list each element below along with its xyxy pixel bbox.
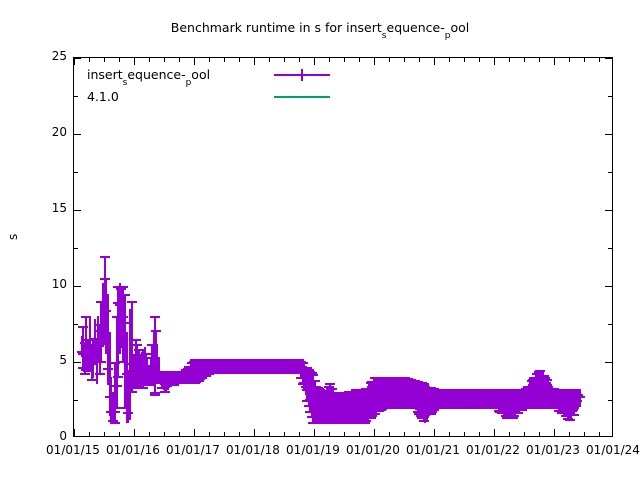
x-minor-tick xyxy=(269,432,270,436)
x-tick-mark xyxy=(134,58,135,65)
errorbar-cap-high xyxy=(151,330,161,332)
chart-root: Benchmark runtime in s for insertsequenc… xyxy=(0,0,640,480)
data-series-layer xyxy=(74,58,613,437)
errorbar-cap-high xyxy=(120,294,130,296)
title-mid: equence- xyxy=(387,20,445,35)
errorbar-cap-high xyxy=(310,380,320,382)
x-tick-mark xyxy=(194,58,195,65)
y-tick-label: 10 xyxy=(7,278,67,290)
errorbar-cap-low xyxy=(201,375,211,377)
x-minor-tick xyxy=(299,58,300,62)
errorbar-cap-low xyxy=(150,394,160,396)
x-minor-tick xyxy=(359,432,360,436)
x-tick-mark xyxy=(434,429,435,436)
x-axis-ticklabels: 01/01/1501/01/1601/01/1701/01/1801/01/19… xyxy=(0,443,640,463)
x-minor-tick xyxy=(149,58,150,62)
x-tick-mark xyxy=(494,429,495,436)
x-minor-tick xyxy=(164,58,165,62)
y-minor-tick xyxy=(608,324,612,325)
x-tick-mark xyxy=(194,429,195,436)
x-minor-tick xyxy=(104,58,105,62)
errorbar-cap-low xyxy=(429,409,439,411)
errorbar-cap-high xyxy=(132,344,142,346)
x-minor-tick xyxy=(389,58,390,62)
x-tick-mark xyxy=(374,58,375,65)
errorbar-cap-low xyxy=(113,376,123,378)
x-tick-mark xyxy=(74,429,75,436)
errorbar-cap-high xyxy=(118,286,128,288)
x-tick-mark xyxy=(74,58,75,65)
errorbar-vertical xyxy=(579,389,581,407)
errorbar-cap-high xyxy=(141,353,151,355)
point-marker xyxy=(101,310,111,312)
x-minor-tick xyxy=(584,58,585,62)
point-marker xyxy=(118,316,128,318)
errorbar-cap-high xyxy=(325,383,335,385)
x-minor-tick xyxy=(209,58,210,62)
x-minor-tick xyxy=(344,432,345,436)
errorbar-cap-low xyxy=(513,412,523,414)
x-minor-tick xyxy=(224,58,225,62)
y-tick-mark xyxy=(605,134,612,135)
errorbar-cap-low xyxy=(509,415,519,417)
x-tick-mark xyxy=(434,58,435,65)
x-minor-tick xyxy=(224,432,225,436)
y-tick-mark xyxy=(74,134,81,135)
errorbar-cap-high xyxy=(100,256,110,258)
errorbar-cap-low xyxy=(361,420,371,422)
x-minor-tick xyxy=(509,432,510,436)
x-minor-tick xyxy=(479,58,480,62)
x-tick-label: 01/01/22 xyxy=(466,443,520,457)
x-tick-label: 01/01/18 xyxy=(226,443,280,457)
x-minor-tick xyxy=(299,432,300,436)
x-minor-tick xyxy=(464,432,465,436)
point-marker xyxy=(103,368,113,370)
y-minor-tick xyxy=(74,324,78,325)
y-tick-mark xyxy=(74,362,81,363)
x-minor-tick xyxy=(449,432,450,436)
x-minor-tick xyxy=(179,58,180,62)
errorbar-cap-low xyxy=(370,413,380,415)
x-minor-tick xyxy=(419,58,420,62)
errorbar-cap-low xyxy=(360,422,370,424)
x-minor-tick xyxy=(89,58,90,62)
y-minor-tick xyxy=(74,172,78,173)
x-minor-tick xyxy=(119,432,120,436)
x-minor-tick xyxy=(104,432,105,436)
x-tick-mark xyxy=(314,429,315,436)
errorbar-cap-low xyxy=(366,417,376,419)
x-tick-mark xyxy=(254,58,255,65)
x-minor-tick xyxy=(284,432,285,436)
x-minor-tick xyxy=(119,58,120,62)
x-minor-tick xyxy=(239,432,240,436)
x-minor-tick xyxy=(404,58,405,62)
errorbar-cap-low xyxy=(565,419,575,421)
x-tick-label: 01/01/16 xyxy=(106,443,160,457)
errorbar-cap-low xyxy=(80,373,90,375)
errorbar-cap-low xyxy=(95,373,105,375)
point-marker xyxy=(112,385,122,387)
x-tick-mark xyxy=(254,429,255,436)
y-tick-label: 20 xyxy=(7,126,67,138)
errorbar-cap-low xyxy=(367,415,377,417)
errorbar-cap-low xyxy=(127,391,137,393)
errorbar-cap-low xyxy=(194,380,204,382)
point-marker xyxy=(575,396,585,398)
x-tick-mark xyxy=(494,58,495,65)
x-minor-tick xyxy=(479,432,480,436)
y-minor-tick xyxy=(608,172,612,173)
x-minor-tick xyxy=(149,432,150,436)
x-minor-tick xyxy=(329,58,330,62)
title-sub-p: p xyxy=(445,31,451,41)
y-minor-tick xyxy=(74,248,78,249)
x-minor-tick xyxy=(569,58,570,62)
point-marker xyxy=(138,387,148,389)
y-minor-tick xyxy=(608,248,612,249)
x-minor-tick xyxy=(359,58,360,62)
x-minor-tick xyxy=(179,432,180,436)
page-title: Benchmark runtime in s for insertsequenc… xyxy=(0,20,640,39)
errorbar-cap-low xyxy=(508,417,518,419)
title-suffix: ool xyxy=(450,20,469,35)
x-minor-tick xyxy=(569,432,570,436)
errorbar-cap-high xyxy=(150,316,160,318)
point-marker xyxy=(123,412,133,414)
errorbar-cap-low xyxy=(169,384,179,386)
x-minor-tick xyxy=(599,432,600,436)
y-tick-label: 5 xyxy=(7,354,67,366)
x-tick-mark xyxy=(554,429,555,436)
x-minor-tick xyxy=(584,432,585,436)
errorbar-cap-low xyxy=(426,413,436,415)
x-tick-mark xyxy=(554,58,555,65)
x-minor-tick xyxy=(404,432,405,436)
x-minor-tick xyxy=(449,58,450,62)
x-minor-tick xyxy=(89,432,90,436)
errorbar-cap-low xyxy=(427,411,437,413)
x-tick-label: 01/01/20 xyxy=(346,443,400,457)
title-sub-s: s xyxy=(382,31,387,41)
y-tick-mark xyxy=(74,58,81,59)
x-minor-tick xyxy=(539,58,540,62)
y-tick-mark xyxy=(605,286,612,287)
y-tick-mark xyxy=(605,58,612,59)
x-minor-tick xyxy=(284,58,285,62)
x-minor-tick xyxy=(509,58,510,62)
errorbar-cap-high xyxy=(131,339,141,341)
x-tick-label: 01/01/24 xyxy=(586,443,640,457)
y-minor-tick xyxy=(74,400,78,401)
x-tick-mark xyxy=(134,429,135,436)
y-minor-tick xyxy=(608,96,612,97)
x-minor-tick xyxy=(239,58,240,62)
title-prefix: Benchmark runtime in s for insert xyxy=(171,20,382,35)
plot-area: insertsequence-pool4.1.0 xyxy=(73,57,613,437)
x-tick-mark xyxy=(314,58,315,65)
x-minor-tick xyxy=(539,432,540,436)
y-tick-mark xyxy=(605,210,612,211)
point-marker xyxy=(116,288,126,290)
y-axis-ticklabels: 0510152025 xyxy=(3,0,67,480)
errorbar-cap-low xyxy=(96,361,106,363)
x-minor-tick xyxy=(419,432,420,436)
x-minor-tick xyxy=(164,432,165,436)
errorbar-cap-low xyxy=(569,414,579,416)
x-minor-tick xyxy=(524,58,525,62)
x-tick-label: 01/01/17 xyxy=(166,443,220,457)
y-tick-mark xyxy=(74,286,81,287)
x-minor-tick xyxy=(389,432,390,436)
x-minor-tick xyxy=(329,432,330,436)
errorbar-cap-high xyxy=(127,301,137,303)
x-minor-tick xyxy=(599,58,600,62)
errorbar-cap-low xyxy=(160,391,170,393)
x-tick-label: 01/01/23 xyxy=(526,443,580,457)
point-marker xyxy=(110,411,120,413)
x-tick-label: 01/01/15 xyxy=(46,443,100,457)
y-tick-label: 15 xyxy=(7,202,67,214)
y-minor-tick xyxy=(74,96,78,97)
x-minor-tick xyxy=(464,58,465,62)
x-tick-label: 01/01/19 xyxy=(286,443,340,457)
x-minor-tick xyxy=(344,58,345,62)
y-tick-mark xyxy=(605,362,612,363)
x-tick-label: 01/01/21 xyxy=(406,443,460,457)
errorbar-cap-low xyxy=(110,422,120,424)
y-tick-label: 0 xyxy=(7,430,67,442)
y-tick-mark xyxy=(74,210,81,211)
y-tick-label: 25 xyxy=(7,50,67,62)
x-minor-tick xyxy=(209,432,210,436)
x-minor-tick xyxy=(269,58,270,62)
errorbar-cap-high xyxy=(308,374,318,376)
y-minor-tick xyxy=(608,400,612,401)
errorbar-cap-low xyxy=(517,409,527,411)
x-minor-tick xyxy=(524,432,525,436)
x-tick-mark xyxy=(374,429,375,436)
